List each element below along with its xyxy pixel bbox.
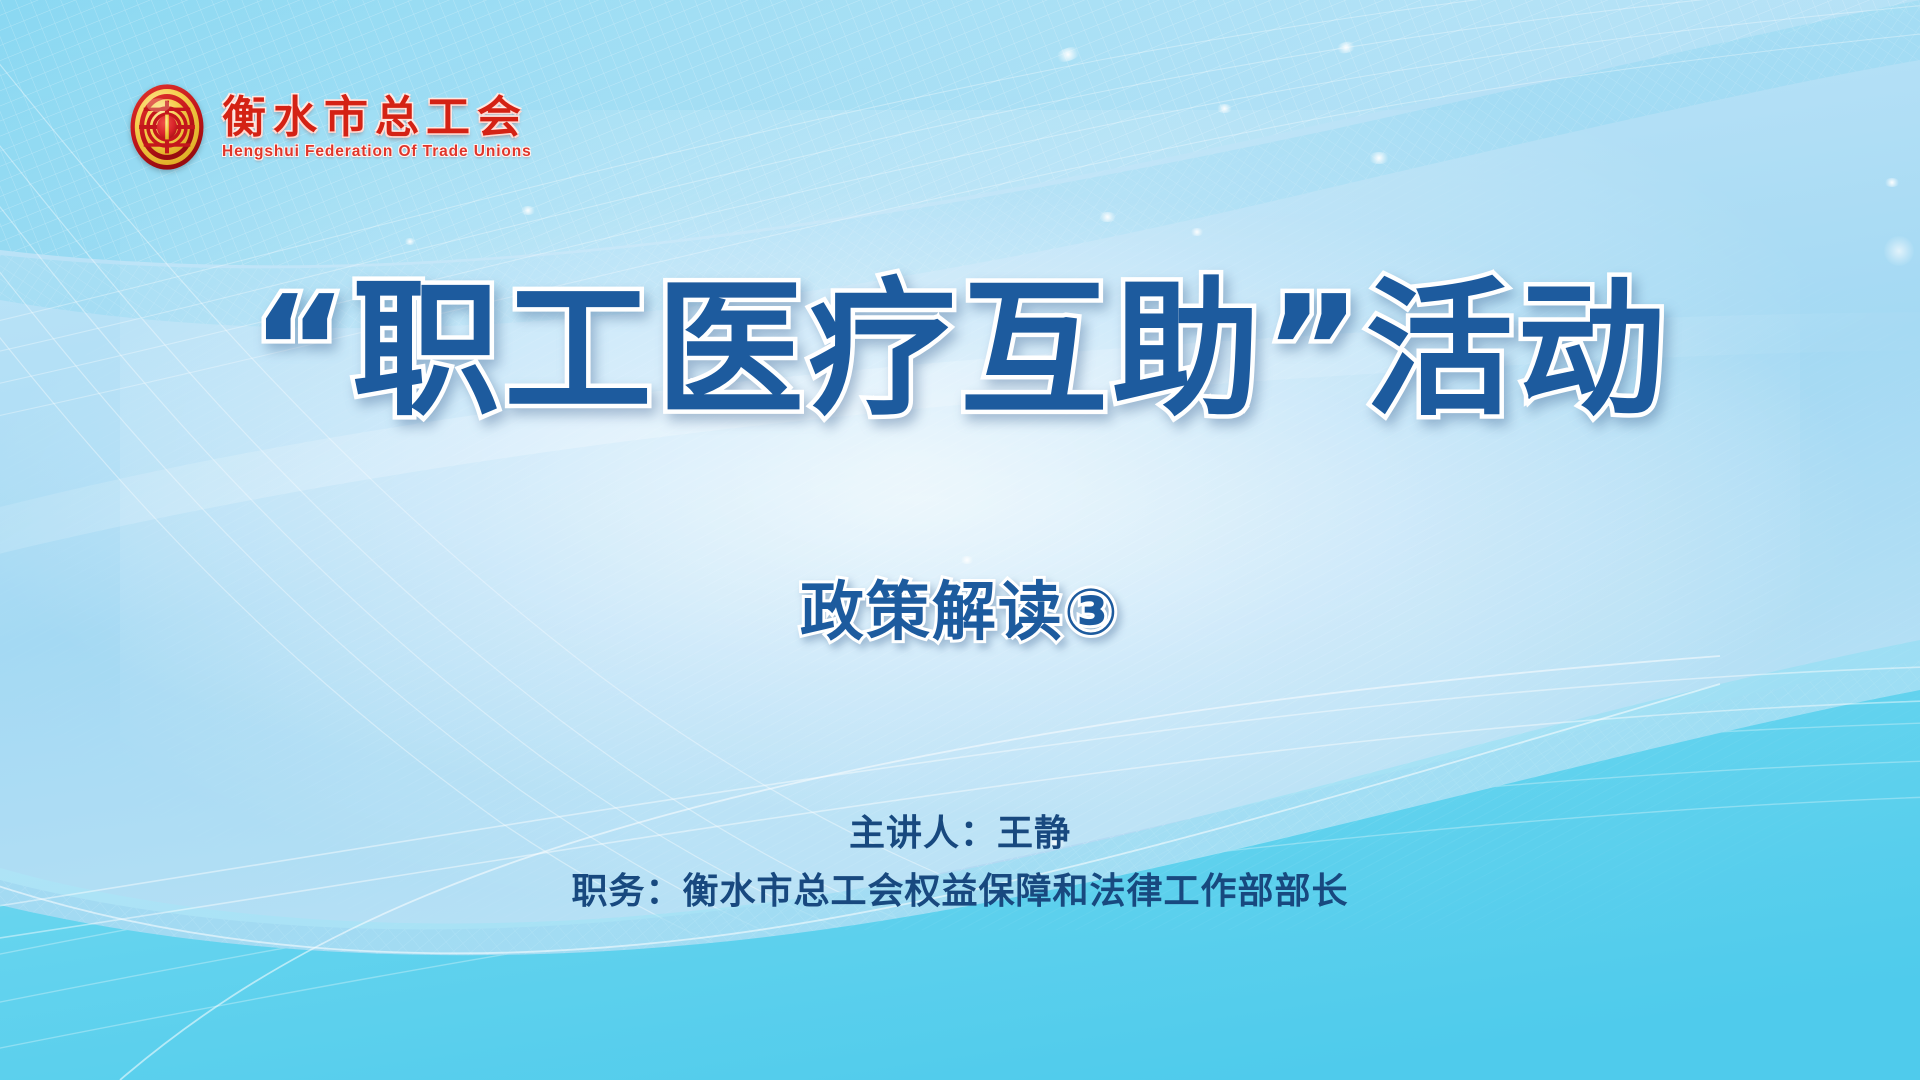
title-slide: 衡水市总工会 Hengshui Federation Of Trade Unio…: [0, 0, 1920, 1080]
bokeh-dot: [1368, 152, 1390, 164]
bokeh-dot: [1884, 178, 1900, 187]
bokeh-dot: [1098, 212, 1117, 222]
bokeh-dot: [1216, 104, 1233, 113]
page-title: “职工医疗互助”活动: [0, 268, 1920, 434]
page-subtitle: 政策解读③: [0, 575, 1920, 652]
hengshui-trade-union-emblem-icon: [128, 82, 206, 172]
bokeh-dot: [1884, 236, 1914, 266]
bokeh-dot: [1335, 40, 1357, 56]
bokeh-dot: [520, 206, 536, 215]
bokeh-dot: [960, 556, 974, 564]
presenter-speaker-line: 主讲人：王静: [0, 808, 1920, 860]
bokeh-dot: [404, 238, 416, 245]
presenter-position-line: 职务：衡水市总工会权益保障和法律工作部部长: [0, 866, 1920, 918]
logo-chinese-name: 衡水市总工会: [222, 95, 532, 141]
organization-logo: 衡水市总工会 Hengshui Federation Of Trade Unio…: [128, 82, 532, 172]
logo-wordmark: 衡水市总工会 Hengshui Federation Of Trade Unio…: [222, 95, 532, 162]
presenter-info: 主讲人：王静 职务：衡水市总工会权益保障和法律工作部部长: [0, 808, 1920, 918]
logo-english-name: Hengshui Federation Of Trade Unions: [222, 143, 532, 161]
bokeh-dot: [1190, 228, 1204, 236]
bokeh-dot: [1054, 44, 1083, 64]
